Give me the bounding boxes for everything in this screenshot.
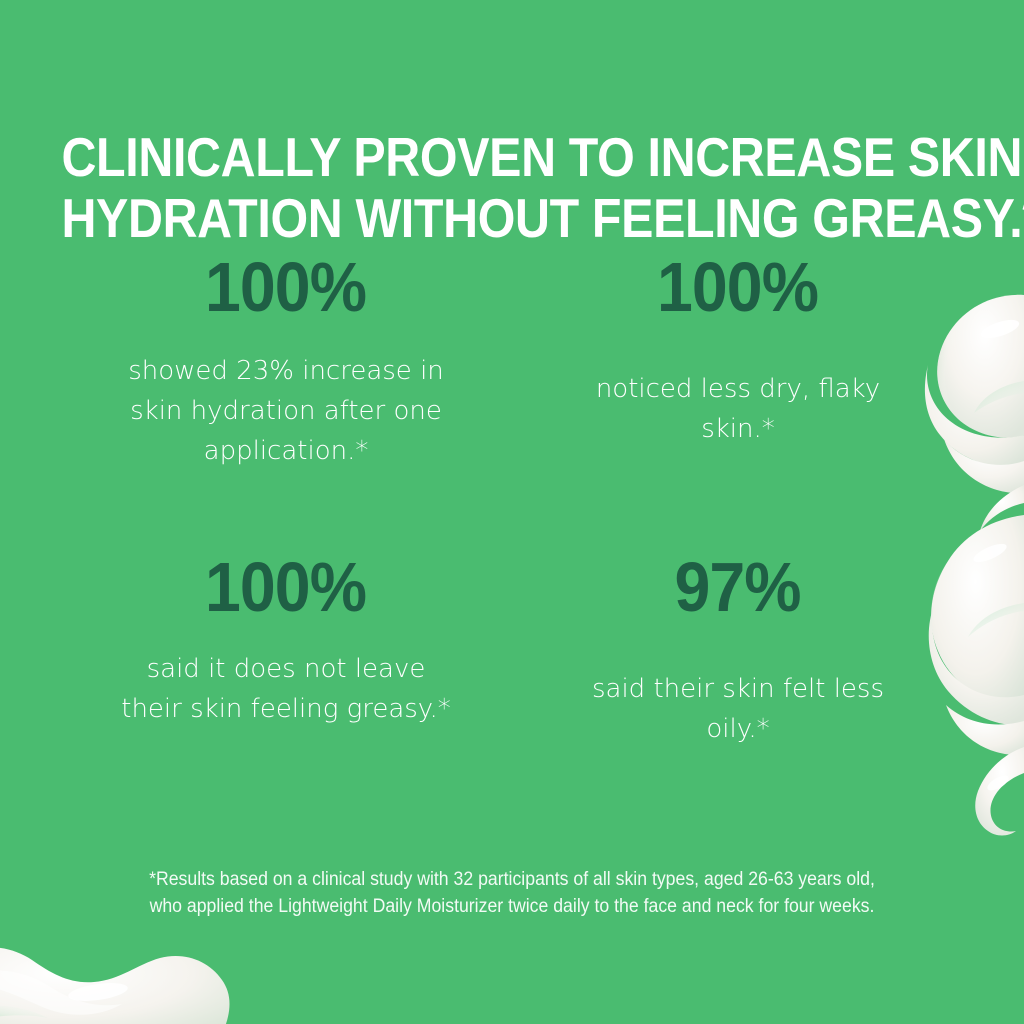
- stat-value: 100%: [205, 552, 366, 622]
- stat-block-less-oily: 97% said their skin felt less oily.*: [512, 552, 964, 852]
- stat-block-less-dry-flaky: 100% noticed less dry, flaky skin.*: [512, 252, 964, 552]
- stat-description: showed 23% increase in skin hydration af…: [116, 352, 456, 471]
- footnote-disclaimer: *Results based on a clinical study with …: [140, 867, 884, 921]
- stat-description: said it does not leave their skin feelin…: [116, 650, 456, 730]
- stat-value: 97%: [675, 552, 801, 622]
- stat-block-not-greasy: 100% said it does not leave their skin f…: [60, 552, 512, 852]
- headline-line-2: HYDRATION WITHOUT FEELING GREASY.*: [61, 188, 962, 249]
- stat-description: said their skin felt less oily.*: [568, 670, 908, 750]
- stat-value: 100%: [657, 252, 818, 322]
- stat-description: noticed less dry, flaky skin.*: [568, 370, 908, 450]
- stat-value: 100%: [205, 252, 366, 322]
- statistics-grid: 100% showed 23% increase in skin hydrati…: [60, 252, 964, 852]
- cream-swirl-bottom-left-icon: [0, 914, 270, 1024]
- page-title: CLINICALLY PROVEN TO INCREASE SKIN HYDRA…: [61, 127, 962, 249]
- headline-line-1: CLINICALLY PROVEN TO INCREASE SKIN: [61, 127, 962, 188]
- stat-block-hydration-increase: 100% showed 23% increase in skin hydrati…: [60, 252, 512, 552]
- infographic-poster: CLINICALLY PROVEN TO INCREASE SKIN HYDRA…: [0, 0, 1024, 1024]
